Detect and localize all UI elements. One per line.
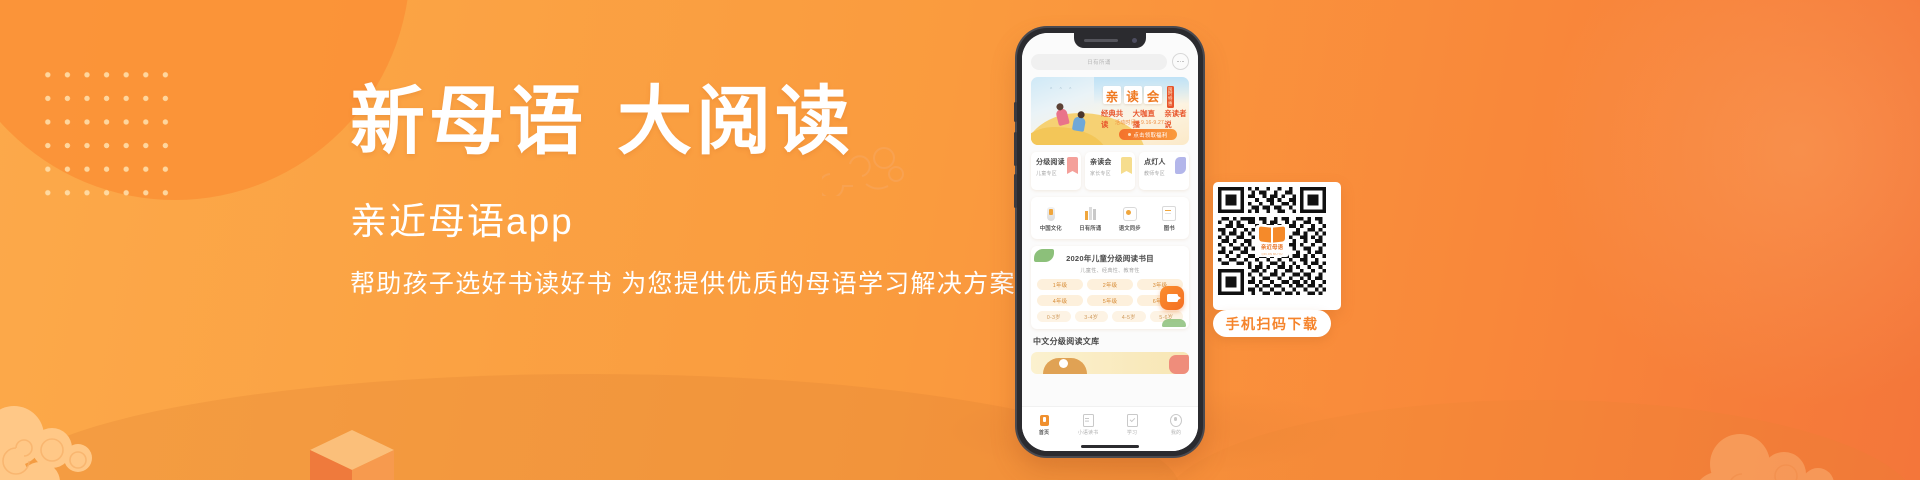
feature-label: 语文同步 — [1119, 224, 1141, 232]
feature-icon-row: 中国文化 日有所诵 语文同步 图书 — [1031, 197, 1189, 239]
category-cards: 分级阅读 儿童专区 亲读会 家长专区 点灯人 教师专区 — [1022, 145, 1198, 190]
book-right-page — [1273, 226, 1285, 242]
open-book-icon — [1259, 227, 1285, 242]
feature-chinese-sync[interactable]: 语文同步 — [1111, 206, 1149, 232]
tab-home[interactable]: 首页 — [1024, 415, 1064, 437]
qr-code-image: 亲近母语 QIN JIN MU YU — [1218, 187, 1326, 295]
search-placeholder: 日有所诵 — [1087, 58, 1111, 66]
hero-title-char: 会 — [1144, 86, 1162, 104]
decorative-dot-grid — [36, 61, 172, 209]
tab-profile[interactable]: 我的 — [1156, 415, 1196, 437]
age-chip[interactable]: 3-4岁 — [1075, 311, 1109, 322]
category-card-reading-club[interactable]: 亲读会 家长专区 — [1085, 152, 1135, 190]
book-icon — [1162, 206, 1177, 221]
library-card[interactable] — [1031, 352, 1189, 374]
category-card-lamplighter[interactable]: 点灯人 教师专区 — [1139, 152, 1189, 190]
library-section-title: 中文分级阅读文库 — [1033, 336, 1198, 347]
checklist-icon — [1126, 415, 1138, 427]
square-dot-icon — [1122, 206, 1137, 221]
more-horizontal-icon[interactable] — [1172, 53, 1189, 70]
feature-books[interactable]: 图书 — [1150, 206, 1188, 232]
booklist-title: 2020年儿童分级阅读书目 — [1037, 253, 1183, 264]
feature-label: 图书 — [1164, 224, 1175, 232]
phone-screen-frame: 日有所诵 ⌃ ⌃ ⌃ 亲 读 — [1022, 33, 1198, 451]
video-play-icon[interactable] — [1160, 286, 1184, 310]
video-camera-glyph — [1167, 294, 1178, 302]
hero-title-char: 读 — [1124, 86, 1142, 104]
hero-subtitle-item: 亲读者说 — [1164, 108, 1189, 130]
feature-label: 日有所诵 — [1079, 224, 1101, 232]
book-left-page — [1259, 226, 1271, 242]
decorative-glow-right — [1540, 0, 1920, 410]
grade-chip[interactable]: 5年级 — [1087, 295, 1133, 306]
booklist-subtitle: 儿童性、经典性、教育性 — [1037, 267, 1183, 274]
qr-center-logo: 亲近母语 QIN JIN MU YU — [1255, 225, 1289, 257]
hero-birds-icon: ⌃ ⌃ ⌃ — [1049, 87, 1074, 93]
phone-volume-up-button[interactable] — [1014, 132, 1017, 166]
feature-chinese-culture[interactable]: 中国文化 — [1032, 206, 1070, 232]
age-chip[interactable]: 0-3岁 — [1037, 311, 1071, 322]
grade-chip[interactable]: 1年级 — [1037, 279, 1083, 290]
home-indicator — [1081, 445, 1139, 448]
feature-daily-recitation[interactable]: 日有所诵 — [1071, 206, 1109, 232]
booklist-card: 2020年儿童分级阅读书目 儿童性、经典性、教育性 1年级 2年级 3年级 4年… — [1031, 246, 1189, 329]
promo-banner: 新母语 大阅读 亲近母语app 帮助孩子选好书读好书 为您提供优质的母语学习解决… — [0, 0, 1920, 480]
age-chip-row: 0-3岁 3-4岁 4-5岁 5-6岁 — [1037, 311, 1183, 322]
vase-icon — [1043, 206, 1058, 221]
hero-title: 亲 读 会 限时特惠 — [1103, 86, 1174, 108]
dot — [1182, 61, 1184, 63]
qr-logo-name: 亲近母语 — [1261, 243, 1283, 251]
download-button-label: 手机扫码下载 — [1226, 314, 1319, 334]
search-input[interactable]: 日有所诵 — [1031, 54, 1167, 70]
decorative-circle-top-left — [0, 0, 410, 200]
decorative-cloud-swirl-icon — [0, 392, 122, 480]
phone-notch — [1074, 33, 1146, 48]
hero-cta-dot — [1128, 133, 1131, 136]
grade-chip[interactable]: 4年级 — [1037, 295, 1083, 306]
qr-code-card: 亲近母语 QIN JIN MU YU — [1213, 182, 1341, 310]
age-chip[interactable]: 4-5岁 — [1112, 311, 1146, 322]
scan-to-download-button[interactable]: 手机扫码下载 — [1213, 310, 1331, 337]
bottom-tabbar: 首页 小语读书 学习 我的 — [1022, 406, 1198, 451]
phone-mockup: 日有所诵 ⌃ ⌃ ⌃ 亲 读 — [1017, 28, 1203, 456]
decorative-cloud-right-icon — [1700, 410, 1850, 480]
library-illustration-side — [1169, 355, 1189, 374]
tab-label: 小语读书 — [1078, 429, 1098, 436]
hero-banner[interactable]: ⌃ ⌃ ⌃ 亲 读 会 限时特惠 经典共读 大咖直播 亲读者说 活动时间：9 — [1031, 77, 1189, 145]
phone-mute-button[interactable] — [1014, 102, 1017, 122]
tab-label: 学习 — [1127, 429, 1137, 436]
document-icon — [1082, 415, 1094, 427]
decorative-hill-right — [1160, 400, 1920, 480]
hero-stamp-badge: 限时特惠 — [1167, 86, 1175, 108]
banner-tagline: 帮助孩子选好书读好书 为您提供优质的母语学习解决方案 — [350, 272, 1010, 297]
tab-study[interactable]: 学习 — [1112, 415, 1152, 437]
decorative-cube-icon — [310, 430, 394, 480]
phone-volume-down-button[interactable] — [1014, 174, 1017, 208]
speaker-grille — [1084, 39, 1118, 42]
app-screen: 日有所诵 ⌃ ⌃ ⌃ 亲 读 — [1022, 33, 1198, 451]
books-icon — [1083, 206, 1098, 221]
tab-label: 首页 — [1039, 429, 1049, 436]
feature-label: 中国文化 — [1040, 224, 1062, 232]
banner-subtitle: 亲近母语app — [350, 203, 1010, 240]
search-row: 日有所诵 — [1022, 53, 1198, 70]
page-title: 新母语 大阅读 — [350, 84, 1010, 159]
decorative-hill-left — [0, 374, 1180, 480]
hero-date-text: 活动时间：9.16-9.27 — [1115, 119, 1164, 126]
tab-label: 我的 — [1171, 429, 1181, 436]
grade-chip[interactable]: 2年级 — [1087, 279, 1133, 290]
lamp-icon — [1175, 157, 1186, 174]
hero-cta-button[interactable]: 点击领取福利 — [1119, 129, 1177, 140]
library-illustration-dot — [1059, 359, 1068, 368]
qr-logo-subtitle: QIN JIN MU YU — [1262, 252, 1283, 256]
child-head — [1056, 103, 1064, 111]
dot — [1180, 61, 1182, 63]
user-icon — [1170, 415, 1182, 427]
front-camera-icon — [1132, 38, 1137, 43]
leaf-decoration-icon — [1162, 319, 1186, 327]
banner-text-block: 新母语 大阅读 亲近母语app 帮助孩子选好书读好书 为您提供优质的母语学习解决… — [350, 84, 1010, 297]
tab-reading[interactable]: 小语读书 — [1068, 415, 1108, 437]
hero-cta-label: 点击领取福利 — [1133, 131, 1167, 139]
hero-title-char: 亲 — [1103, 86, 1121, 104]
category-card-graded-reading[interactable]: 分级阅读 儿童专区 — [1031, 152, 1081, 190]
dot — [1177, 61, 1179, 63]
home-icon — [1038, 415, 1050, 427]
hero-child-illustration — [1072, 116, 1086, 132]
